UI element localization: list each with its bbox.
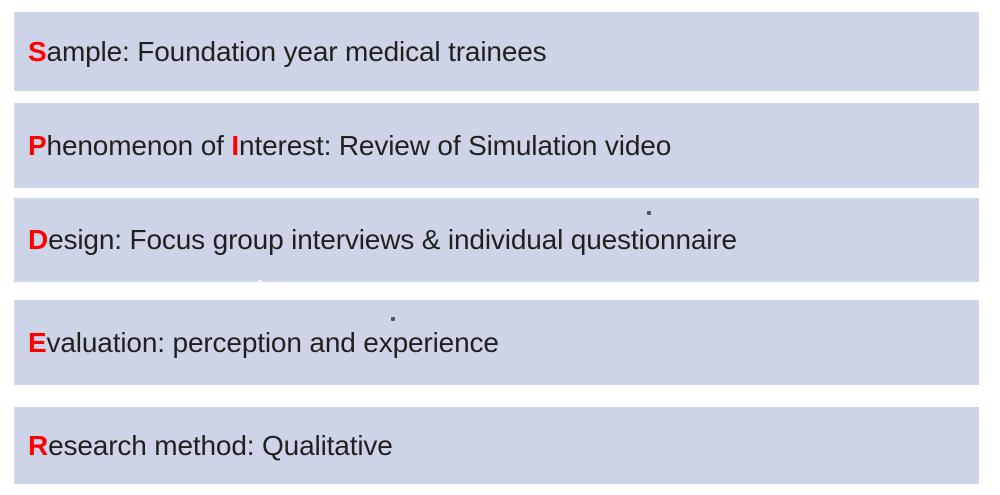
row-body-text: ample: Foundation year medical trainees bbox=[47, 36, 547, 67]
framework-row-phenomenon-of-interest: Phenomenon of Interest: Review of Simula… bbox=[14, 103, 979, 188]
framework-row-design: Design: Focus group interviews & individ… bbox=[14, 198, 979, 282]
row-body-text: valuation: perception and experience bbox=[47, 327, 499, 358]
scan-artifact-speck bbox=[391, 317, 395, 321]
framework-row-text: Phenomenon of Interest: Review of Simula… bbox=[28, 132, 671, 160]
row-initial-letter: R bbox=[28, 430, 48, 461]
spider-framework-diagram: Sample: Foundation year medical trainees… bbox=[0, 0, 1000, 495]
row-initial-letter: S bbox=[28, 36, 47, 67]
row-second-initial-letter: I bbox=[231, 130, 239, 161]
framework-row-research-method: Research method: Qualitative bbox=[14, 407, 979, 484]
framework-row-sample: Sample: Foundation year medical trainees bbox=[14, 12, 979, 91]
framework-row-text: Sample: Foundation year medical trainees bbox=[28, 38, 547, 66]
row-initial-letter: D bbox=[28, 224, 48, 255]
row-body-text: esearch method: Qualitative bbox=[48, 430, 393, 461]
row-body-text: esign: Focus group interviews & individu… bbox=[48, 224, 737, 255]
scan-artifact-speck bbox=[258, 280, 262, 284]
scan-artifact-speck bbox=[647, 211, 651, 215]
row-body-text-continued: nterest: Review of Simulation video bbox=[239, 130, 671, 161]
framework-row-text: Research method: Qualitative bbox=[28, 432, 393, 460]
row-initial-letter: P bbox=[28, 130, 47, 161]
framework-row-text: Evaluation: perception and experience bbox=[28, 329, 499, 357]
row-initial-letter: E bbox=[28, 327, 47, 358]
framework-row-evaluation: Evaluation: perception and experience bbox=[14, 300, 979, 385]
framework-row-text: Design: Focus group interviews & individ… bbox=[28, 226, 737, 254]
row-body-text: henomenon of bbox=[47, 130, 232, 161]
